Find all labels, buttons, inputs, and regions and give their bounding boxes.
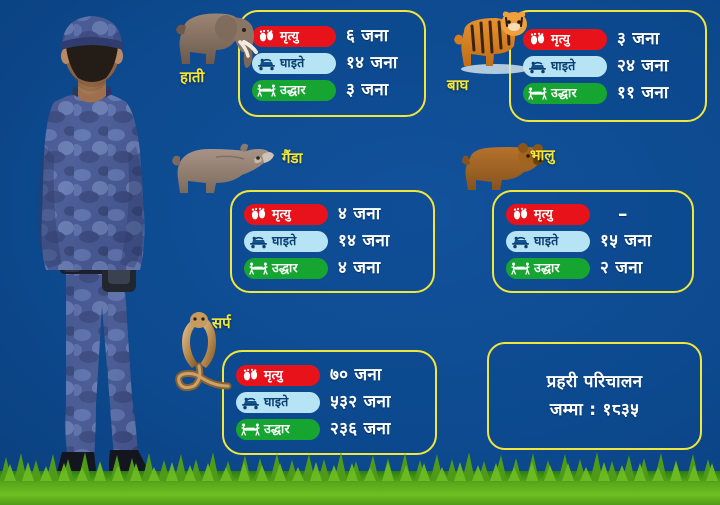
- stat-row-injured: घाइते १४ जना: [252, 51, 414, 76]
- stat-value-rescue: २ जना: [600, 260, 642, 277]
- stretcher-patient-icon: [241, 395, 260, 410]
- stat-row-death: मृत्यु –: [506, 202, 682, 227]
- stretcher-patient-icon: [249, 234, 268, 249]
- footprints-icon: [511, 207, 530, 222]
- badge-death: मृत्यु: [236, 365, 320, 386]
- stat-row-death: मृत्यु ३ जना: [523, 27, 695, 52]
- grass-blades: [0, 451, 720, 481]
- stretcher-patient-icon: [257, 56, 276, 71]
- footprints-icon: [528, 32, 547, 47]
- stretcher-carry-icon: [257, 83, 276, 98]
- badge-rescue: उद्धार: [236, 419, 320, 440]
- animal-label-tiger: बाघ: [447, 78, 468, 93]
- stat-row-injured: घाइते १४ जना: [244, 229, 423, 254]
- stat-row-injured: घाइते ५३२ जना: [236, 390, 425, 415]
- stat-row-rescue: उद्धार ४ जना: [244, 256, 423, 281]
- stat-value-rescue: ११ जना: [617, 85, 669, 102]
- stat-value-death: ६ जना: [346, 28, 388, 45]
- stat-card-rhino: मृत्यु ४ जना घाइते १४ जना उद्ध: [230, 190, 435, 293]
- badge-death: मृत्यु: [244, 204, 328, 225]
- stat-value-rescue: २३६ जना: [330, 421, 391, 438]
- stat-value-injured: १४ जना: [338, 233, 390, 250]
- stat-value-death: ३ जना: [617, 31, 659, 48]
- animal-label-bear: भालु: [530, 148, 555, 163]
- footprints-icon: [257, 29, 276, 44]
- badge-injured: घाइते: [523, 56, 607, 77]
- infographic-poster: हाती बाघ: [0, 0, 720, 505]
- stat-row-rescue: उद्धार २३६ जना: [236, 417, 425, 442]
- badge-label-injured: घाइते: [534, 235, 559, 248]
- stat-value-rescue: ४ जना: [338, 260, 380, 277]
- badge-label-death: मृत्यु: [272, 208, 291, 221]
- stat-row-death: मृत्यु ४ जना: [244, 202, 423, 227]
- animal-label-rhino: गैंडा: [282, 151, 302, 166]
- badge-injured: घाइते: [244, 231, 328, 252]
- badge-injured: घाइते: [236, 392, 320, 413]
- badge-label-death: मृत्यु: [551, 33, 570, 46]
- badge-rescue: उद्धार: [523, 83, 607, 104]
- badge-label-rescue: उद्धार: [272, 262, 298, 275]
- stretcher-patient-icon: [511, 234, 530, 249]
- badge-label-death: मृत्यु: [280, 30, 299, 43]
- stat-value-death: –: [600, 205, 628, 224]
- summary-box: प्रहरी परिचालन जम्मा : १८३५: [487, 342, 702, 450]
- badge-label-rescue: उद्धार: [551, 87, 577, 100]
- badge-death: मृत्यु: [252, 26, 336, 47]
- stretcher-carry-icon: [511, 261, 530, 276]
- badge-death: मृत्यु: [506, 204, 590, 225]
- summary-line-2: जम्मा : १८३५: [550, 402, 639, 419]
- summary-line-1: प्रहरी परिचालन: [547, 374, 643, 391]
- stat-card-snake: मृत्यु ७० जना घाइते ५३२ जना उद: [222, 350, 437, 455]
- badge-label-rescue: उद्धार: [264, 423, 290, 436]
- stat-value-injured: १४ जना: [346, 55, 398, 72]
- stretcher-carry-icon: [241, 422, 260, 437]
- badge-injured: घाइते: [252, 53, 336, 74]
- badge-label-death: मृत्यु: [534, 208, 553, 221]
- stat-card-tiger: मृत्यु ३ जना घाइते २४ जना उद्ध: [509, 10, 707, 122]
- stat-card-bear: मृत्यु – घाइते १५ जना उद्धार: [492, 190, 694, 293]
- badge-label-rescue: उद्धार: [534, 262, 560, 275]
- stat-row-rescue: उद्धार ११ जना: [523, 81, 695, 106]
- badge-label-injured: घाइते: [551, 60, 576, 73]
- stretcher-carry-icon: [528, 86, 547, 101]
- badge-label-injured: घाइते: [264, 396, 289, 409]
- stat-row-injured: घाइते २४ जना: [523, 54, 695, 79]
- stat-value-injured: २४ जना: [617, 58, 669, 75]
- badge-label-death: मृत्यु: [264, 369, 283, 382]
- badge-rescue: उद्धार: [244, 258, 328, 279]
- stretcher-carry-icon: [249, 261, 268, 276]
- stat-row-rescue: उद्धार २ जना: [506, 256, 682, 281]
- stat-row-injured: घाइते १५ जना: [506, 229, 682, 254]
- badge-rescue: उद्धार: [252, 80, 336, 101]
- badge-label-injured: घाइते: [272, 235, 297, 248]
- stat-row-death: मृत्यु ६ जना: [252, 24, 414, 49]
- stat-value-death: ४ जना: [338, 206, 380, 223]
- stat-value-injured: ५३२ जना: [330, 394, 391, 411]
- badge-rescue: उद्धार: [506, 258, 590, 279]
- footprints-icon: [249, 207, 268, 222]
- stat-row-rescue: उद्धार ३ जना: [252, 78, 414, 103]
- stat-row-death: मृत्यु ७० जना: [236, 363, 425, 388]
- police-officer-figure: [6, 6, 174, 484]
- badge-label-injured: घाइते: [280, 57, 305, 70]
- badge-injured: घाइते: [506, 231, 590, 252]
- stat-card-elephant: मृत्यु ६ जना घाइते १४ जना उद्ध: [238, 10, 426, 117]
- animal-label-snake: सर्प: [212, 316, 231, 331]
- stretcher-patient-icon: [528, 59, 547, 74]
- stat-value-injured: १५ जना: [600, 233, 652, 250]
- stat-value-rescue: ३ जना: [346, 82, 388, 99]
- animal-label-elephant: हाती: [180, 70, 204, 85]
- badge-label-rescue: उद्धार: [280, 84, 306, 97]
- stat-value-death: ७० जना: [330, 367, 382, 384]
- badge-death: मृत्यु: [523, 29, 607, 50]
- footprints-icon: [241, 368, 260, 383]
